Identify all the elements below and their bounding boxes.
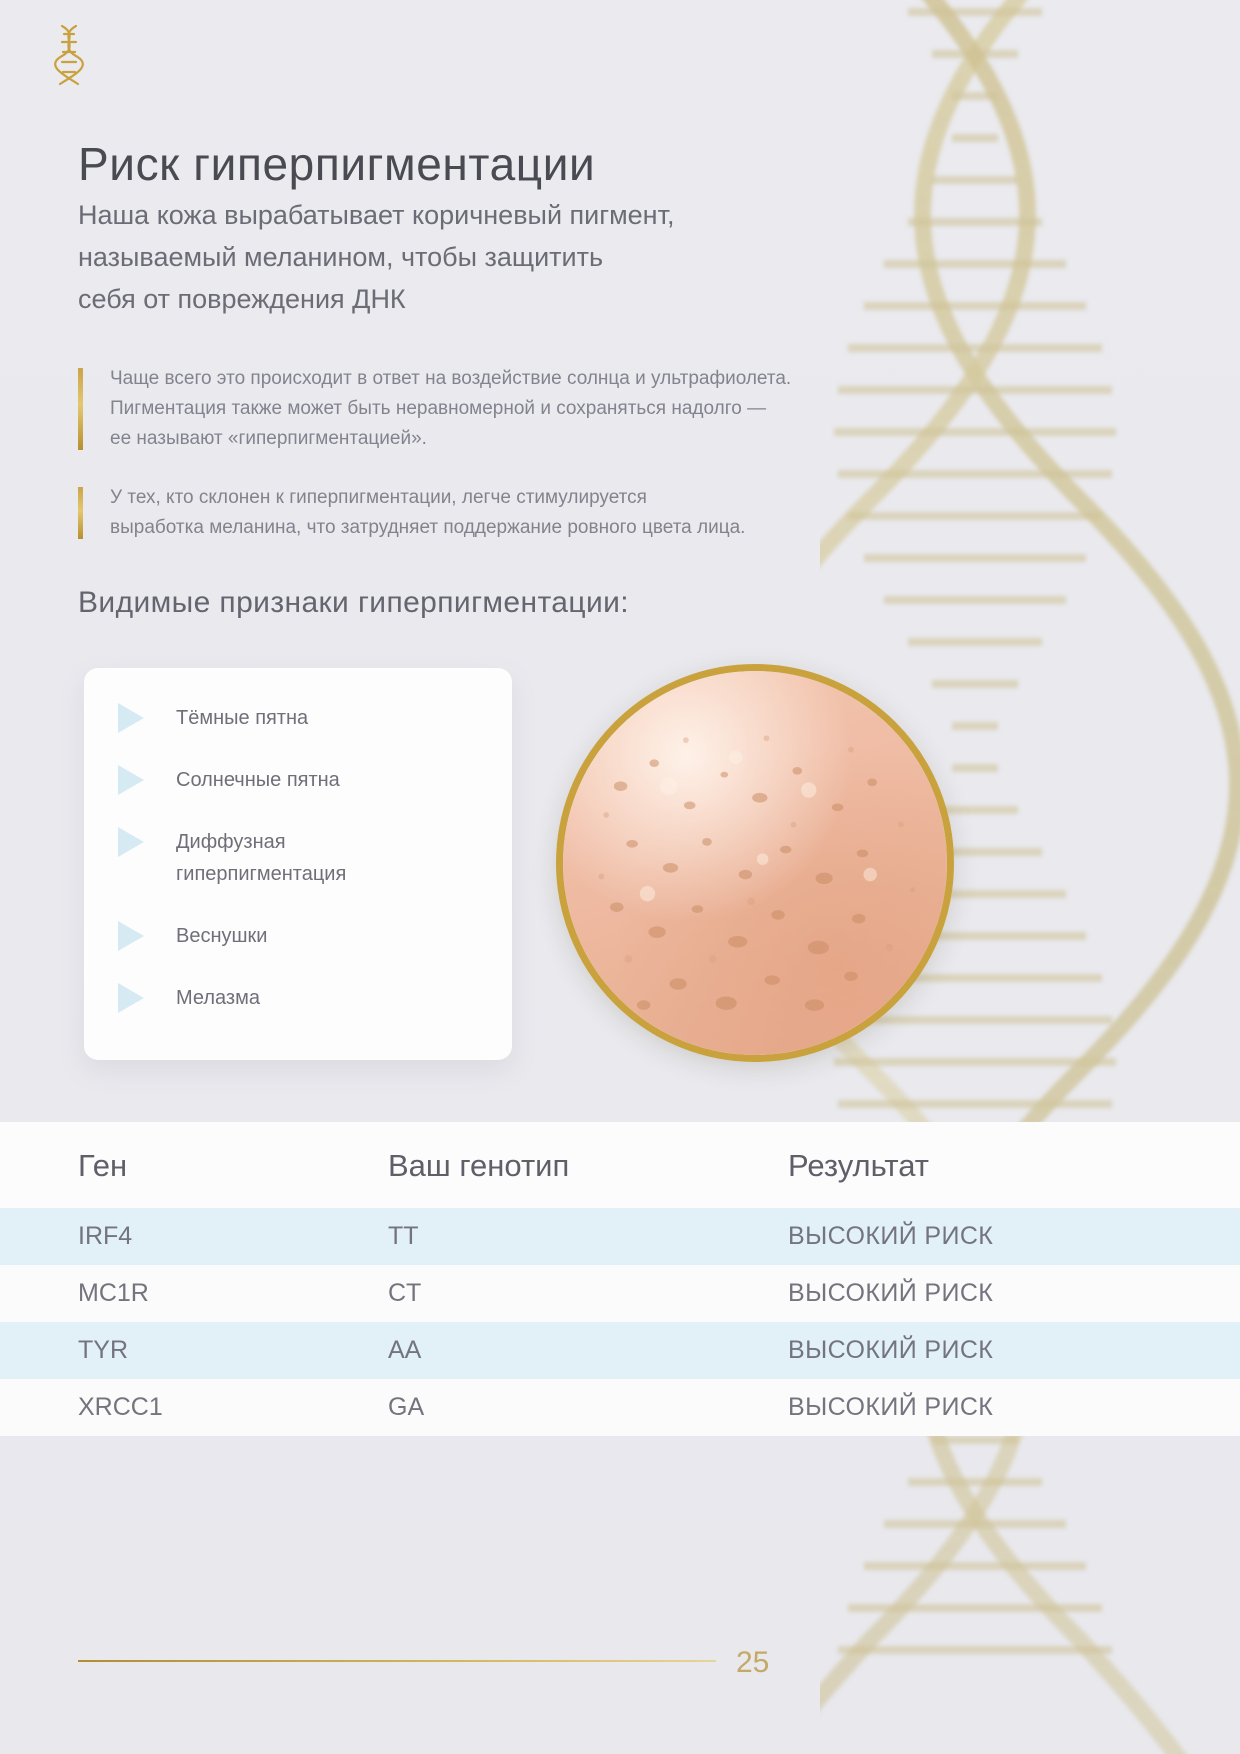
table-row: MC1R CT ВЫСОКИЙ РИСК xyxy=(0,1265,1240,1322)
footer-divider xyxy=(78,1660,716,1662)
column-header-genotype: Ваш генотип xyxy=(388,1122,788,1208)
triangle-right-icon xyxy=(118,921,144,951)
callout-quote-2: У тех, кто склонен к гиперпигментации, л… xyxy=(78,483,1000,543)
page-footer: 25 xyxy=(0,1518,1240,1754)
cell-genotype: TT xyxy=(388,1208,788,1265)
column-header-gene: Ген xyxy=(0,1122,388,1208)
table-row: XRCC1 GA ВЫСОКИЙ РИСК xyxy=(0,1379,1240,1436)
callout-quote-1: Чаще всего это происходит в ответ на воз… xyxy=(78,364,1000,454)
page-title: Риск гиперпигментации xyxy=(78,137,595,191)
skin-photo-image xyxy=(563,671,947,1055)
signs-section-title: Видимые признаки гиперпигментации: xyxy=(78,586,629,620)
cell-gene: MC1R xyxy=(0,1265,388,1322)
cell-genotype: CT xyxy=(388,1265,788,1322)
list-item-label: Диффузная гиперпигментация xyxy=(176,826,346,890)
triangle-right-icon xyxy=(118,983,144,1013)
cell-gene: TYR xyxy=(0,1322,388,1379)
callout-quote-1-text: Чаще всего это происходит в ответ на воз… xyxy=(110,368,791,449)
list-item-label: Солнечные пятна xyxy=(176,764,340,796)
table-row: TYR AA ВЫСОКИЙ РИСК xyxy=(0,1322,1240,1379)
list-item-label: Тёмные пятна xyxy=(176,702,308,734)
status-badge: ВЫСОКИЙ РИСК xyxy=(788,1265,1240,1322)
cell-genotype: GA xyxy=(388,1379,788,1436)
column-header-result: Результат xyxy=(788,1122,1240,1208)
triangle-right-icon xyxy=(118,765,144,795)
list-item: Тёмные пятна xyxy=(84,702,512,734)
page-number: 25 xyxy=(736,1646,769,1680)
callout-quote-2-text: У тех, кто склонен к гиперпигментации, л… xyxy=(110,487,745,538)
triangle-right-icon xyxy=(118,703,144,733)
list-item: Диффузная гиперпигментация xyxy=(84,826,512,890)
cell-genotype: AA xyxy=(388,1322,788,1379)
status-badge: ВЫСОКИЙ РИСК xyxy=(788,1322,1240,1379)
status-badge: ВЫСОКИЙ РИСК xyxy=(788,1208,1240,1265)
list-item: Веснушки xyxy=(84,920,512,952)
dna-helix-icon xyxy=(46,22,92,88)
results-table-wrapper: Ген Ваш генотип Результат IRF4 TT ВЫСОКИ… xyxy=(0,1122,1240,1436)
status-badge: ВЫСОКИЙ РИСК xyxy=(788,1379,1240,1436)
cell-gene: XRCC1 xyxy=(0,1379,388,1436)
signs-list-card: Тёмные пятна Солнечные пятна Диффузная г… xyxy=(84,668,512,1060)
list-item-label: Мелазма xyxy=(176,982,260,1014)
list-item: Мелазма xyxy=(84,982,512,1014)
intro-paragraph: Наша кожа вырабатывает коричневый пигмен… xyxy=(78,194,958,320)
gene-results-table: Ген Ваш генотип Результат IRF4 TT ВЫСОКИ… xyxy=(0,1122,1240,1436)
triangle-right-icon xyxy=(118,827,144,857)
table-header-row: Ген Ваш генотип Результат xyxy=(0,1122,1240,1208)
cell-gene: IRF4 xyxy=(0,1208,388,1265)
list-item-label: Веснушки xyxy=(176,920,267,952)
skin-photo xyxy=(556,664,954,1062)
list-item: Солнечные пятна xyxy=(84,764,512,796)
table-row: IRF4 TT ВЫСОКИЙ РИСК xyxy=(0,1208,1240,1265)
